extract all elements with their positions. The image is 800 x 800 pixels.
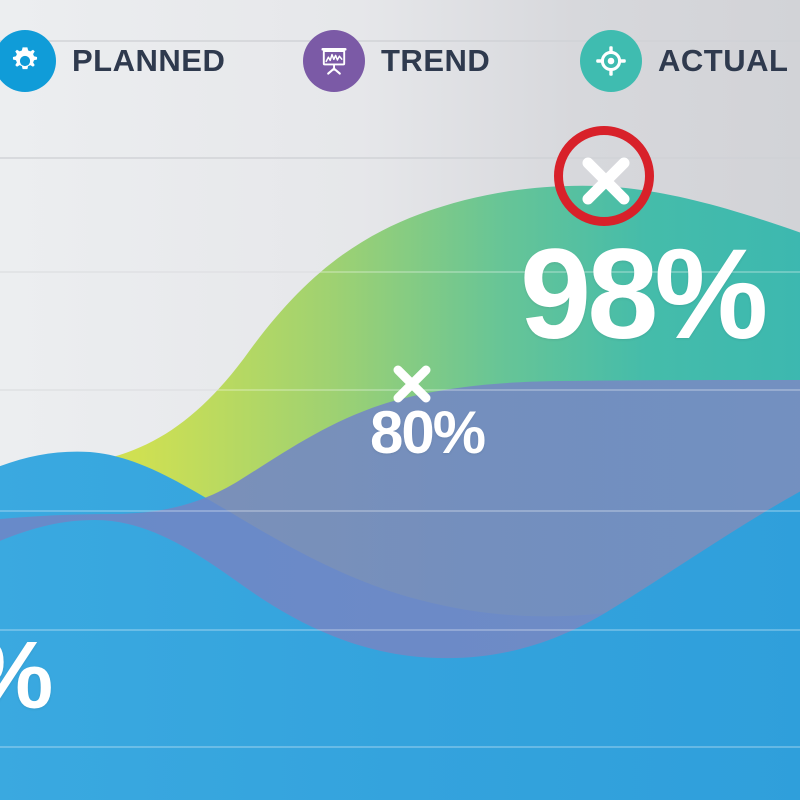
x-marker-icon — [575, 150, 637, 212]
legend-label-planned: PLANNED — [72, 43, 225, 79]
gear-icon — [0, 30, 56, 92]
annotation-trend-point[interactable]: 80% — [370, 360, 550, 461]
legend-item-actual[interactable]: ACTUAL — [580, 30, 788, 92]
annotation-actual-peak[interactable]: 98% — [520, 148, 800, 356]
target-crosshair-icon — [580, 30, 642, 92]
legend-label-trend: TREND — [381, 43, 490, 79]
presentation-chart-icon — [303, 30, 365, 92]
actual-peak-value: 98% — [520, 234, 800, 356]
trend-point-value: 80% — [370, 404, 550, 461]
annotation-clipped-percent: % — [0, 630, 108, 721]
legend-item-planned[interactable]: PLANNED — [0, 30, 225, 92]
clipped-percent-value: % — [0, 630, 108, 721]
legend-label-actual: ACTUAL — [658, 43, 788, 79]
legend-item-trend[interactable]: TREND — [303, 30, 490, 92]
chart-stage: 98% 80% % PLANNED — [0, 0, 800, 800]
x-marker-icon — [388, 360, 436, 408]
